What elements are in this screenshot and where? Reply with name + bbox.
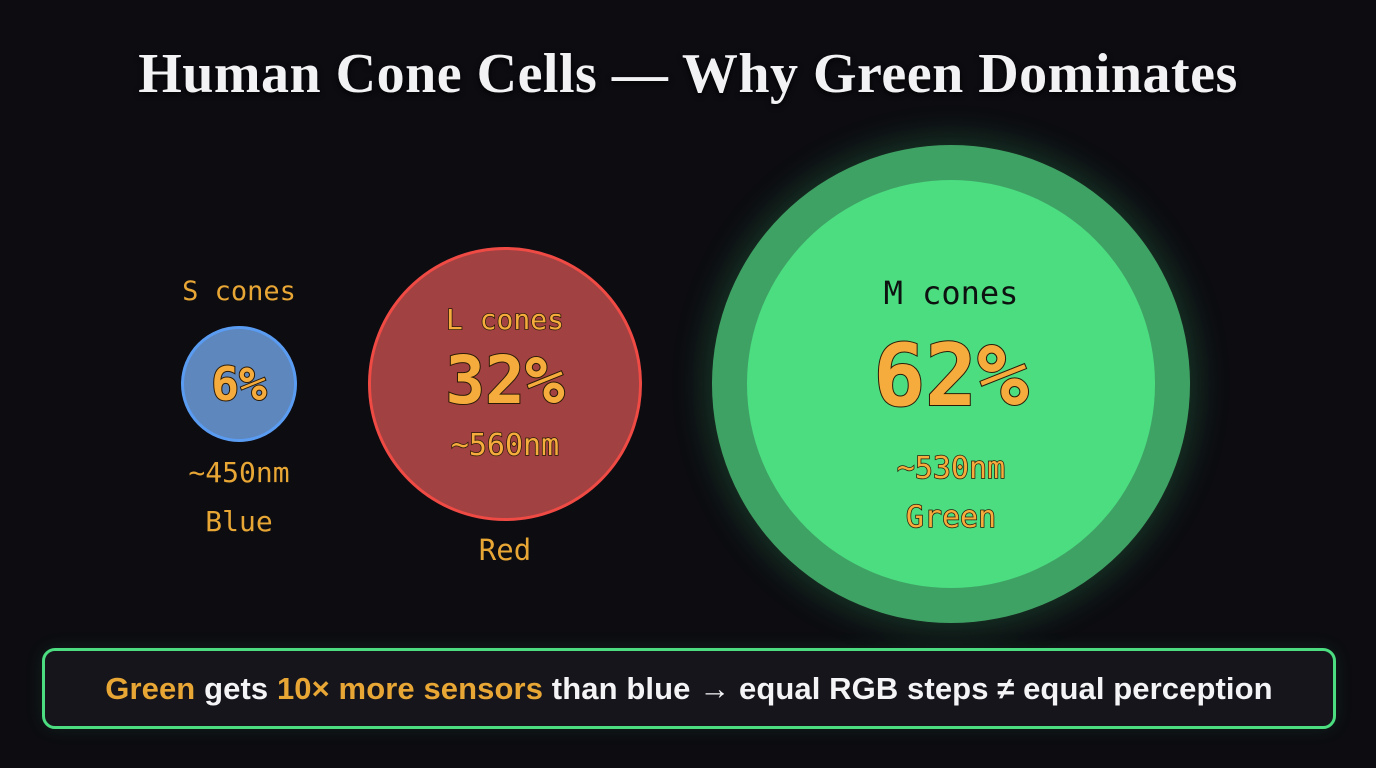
- l-cones-label: L cones: [385, 303, 625, 336]
- l-cones-wavelength: ~560nm: [385, 428, 625, 463]
- l-cones-color-name: Red: [385, 533, 625, 567]
- s-cones-color-name: Blue: [139, 505, 339, 538]
- s-cones-percent: 6%: [139, 357, 339, 411]
- infographic-root: Human Cone Cells — Why Green Dominates S…: [0, 0, 1376, 768]
- takeaway-banner: Green gets 10× more sensors than blue → …: [42, 648, 1336, 729]
- l-cones-percent: 32%: [385, 342, 625, 419]
- s-cones-label: S cones: [139, 276, 339, 307]
- s-cones-wavelength: ~450nm: [139, 456, 339, 489]
- takeaway-plain-2: than blue → equal RGB steps ≠ equal perc…: [543, 671, 1273, 706]
- takeaway-plain-1: gets: [195, 671, 277, 706]
- m-cones-color-name: Green: [811, 500, 1091, 535]
- takeaway-green-word: Green: [105, 671, 195, 706]
- m-cones-wavelength: ~530nm: [811, 451, 1091, 486]
- takeaway-sensors-phrase: 10× more sensors: [277, 671, 543, 706]
- page-title: Human Cone Cells — Why Green Dominates: [0, 42, 1376, 106]
- m-cones-label: M cones: [811, 274, 1091, 312]
- takeaway-text: Green gets 10× more sensors than blue → …: [105, 671, 1272, 707]
- m-cones-percent: 62%: [811, 326, 1091, 426]
